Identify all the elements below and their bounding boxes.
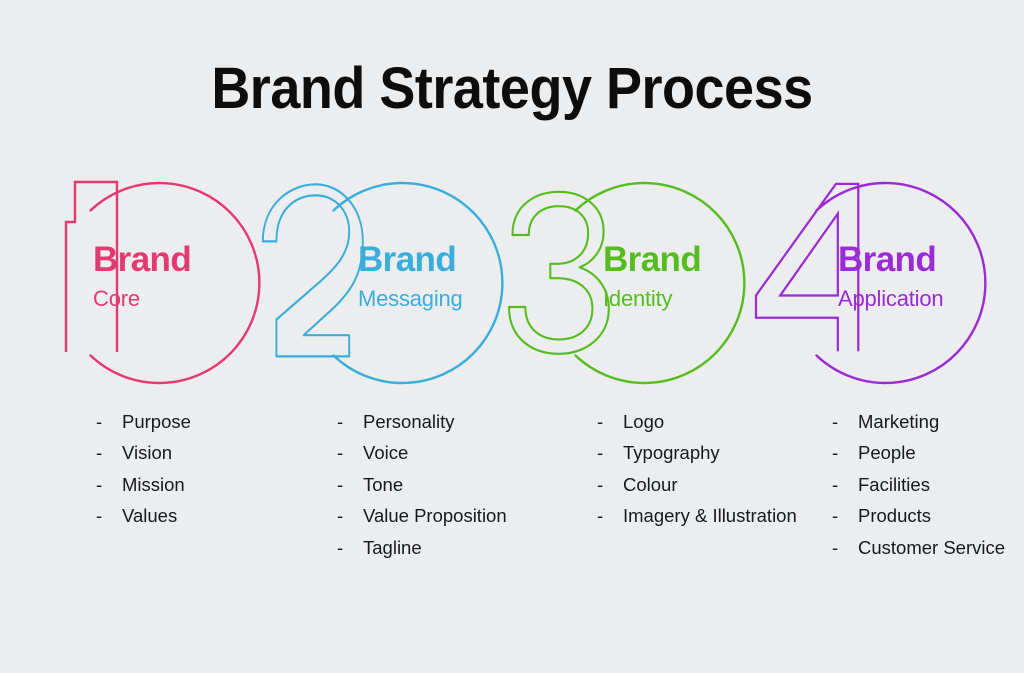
list-item: -Imagery & Illustration (597, 500, 797, 531)
bullet-dash-icon: - (337, 406, 343, 437)
list-item: -Purpose (96, 406, 191, 437)
list-item-label: Marketing (858, 411, 939, 432)
list-item: -Colour (597, 469, 797, 500)
stage-4-subtitle: Application (838, 288, 943, 310)
list-item-label: Logo (623, 411, 664, 432)
list-item-label: Mission (122, 474, 185, 495)
list-item: -Personality (337, 406, 507, 437)
list-item-label: Purpose (122, 411, 191, 432)
stage-1-item-list: -Purpose-Vision-Mission-Values (96, 406, 191, 532)
bullet-dash-icon: - (337, 500, 343, 531)
bullet-dash-icon: - (597, 406, 603, 437)
stage-3-numeral (509, 192, 609, 354)
stage-4-item-list: -Marketing-People-Facilities-Products-Cu… (832, 406, 1005, 563)
stage-2-numeral (263, 184, 363, 356)
bullet-dash-icon: - (832, 500, 838, 531)
infographic-canvas: Brand Strategy Process Brand Core -Purpo… (0, 0, 1024, 673)
list-item-label: Tone (363, 474, 403, 495)
list-item-label: Vision (122, 442, 172, 463)
bullet-dash-icon: - (96, 500, 102, 531)
stage-1-subtitle: Core (93, 288, 191, 310)
bullet-dash-icon: - (597, 469, 603, 500)
list-item: -Value Proposition (337, 500, 507, 531)
bullet-dash-icon: - (337, 437, 343, 468)
list-item: -Mission (96, 469, 191, 500)
stage-3-title: Brand (603, 242, 701, 277)
stage-2-label: Brand Messaging (358, 242, 463, 310)
list-item-label: Personality (363, 411, 455, 432)
list-item: -Voice (337, 437, 507, 468)
list-item-label: Values (122, 505, 177, 526)
list-item-label: Colour (623, 474, 678, 495)
list-item-label: Facilities (858, 474, 930, 495)
list-item: -Facilities (832, 469, 1005, 500)
list-item-label: Tagline (363, 537, 422, 558)
list-item: -Marketing (832, 406, 1005, 437)
bullet-dash-icon: - (597, 437, 603, 468)
list-item-label: Typography (623, 442, 720, 463)
bullet-dash-icon: - (96, 406, 102, 437)
stage-brand-core: Brand Core (20, 170, 280, 400)
list-item: -Values (96, 500, 191, 531)
bullet-dash-icon: - (597, 500, 603, 531)
list-item: -Logo (597, 406, 797, 437)
bullet-dash-icon: - (832, 406, 838, 437)
bullet-dash-icon: - (96, 469, 102, 500)
list-item: -Tagline (337, 532, 507, 563)
list-item: -People (832, 437, 1005, 468)
list-item: -Typography (597, 437, 797, 468)
bullet-dash-icon: - (832, 469, 838, 500)
stage-3-item-list: -Logo-Typography-Colour-Imagery & Illust… (597, 406, 797, 532)
bullet-dash-icon: - (832, 532, 838, 563)
stage-4-title: Brand (838, 242, 943, 277)
stage-2-item-list: -Personality-Voice-Tone-Value Propositio… (337, 406, 507, 563)
page-title: Brand Strategy Process (36, 55, 988, 122)
stage-4-label: Brand Application (838, 242, 943, 310)
stage-brand-identity: Brand Identity (503, 170, 768, 400)
bullet-dash-icon: - (337, 469, 343, 500)
bullet-dash-icon: - (832, 437, 838, 468)
stage-brand-application: Brand Application (750, 170, 1020, 400)
list-item-label: Imagery & Illustration (623, 505, 797, 526)
list-item-label: Value Proposition (363, 505, 507, 526)
list-item-label: Customer Service (858, 537, 1005, 558)
stage-2-subtitle: Messaging (358, 288, 463, 310)
stage-1-label: Brand Core (93, 242, 191, 310)
list-item: -Vision (96, 437, 191, 468)
list-item-label: Voice (363, 442, 408, 463)
list-item: -Customer Service (832, 532, 1005, 563)
stage-brand-messaging: Brand Messaging (258, 170, 523, 400)
list-item-label: People (858, 442, 916, 463)
stage-2-title: Brand (358, 242, 463, 277)
stage-3-label: Brand Identity (603, 242, 701, 310)
list-item: -Products (832, 500, 1005, 531)
bullet-dash-icon: - (96, 437, 102, 468)
list-item-label: Products (858, 505, 931, 526)
stage-1-title: Brand (93, 242, 191, 277)
list-item: -Tone (337, 469, 507, 500)
stage-3-subtitle: Identity (603, 288, 701, 310)
bullet-dash-icon: - (337, 532, 343, 563)
